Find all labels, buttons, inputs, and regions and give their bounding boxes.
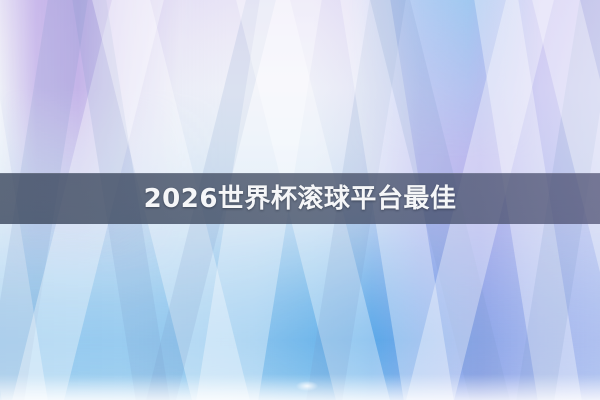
bottom-watermark-artifact bbox=[296, 381, 318, 391]
caption-bar: 2026世界杯滚球平台最佳 bbox=[0, 173, 600, 224]
promo-banner: 2026世界杯滚球平台最佳 bbox=[0, 0, 600, 400]
banner-title: 2026世界杯滚球平台最佳 bbox=[144, 186, 457, 212]
